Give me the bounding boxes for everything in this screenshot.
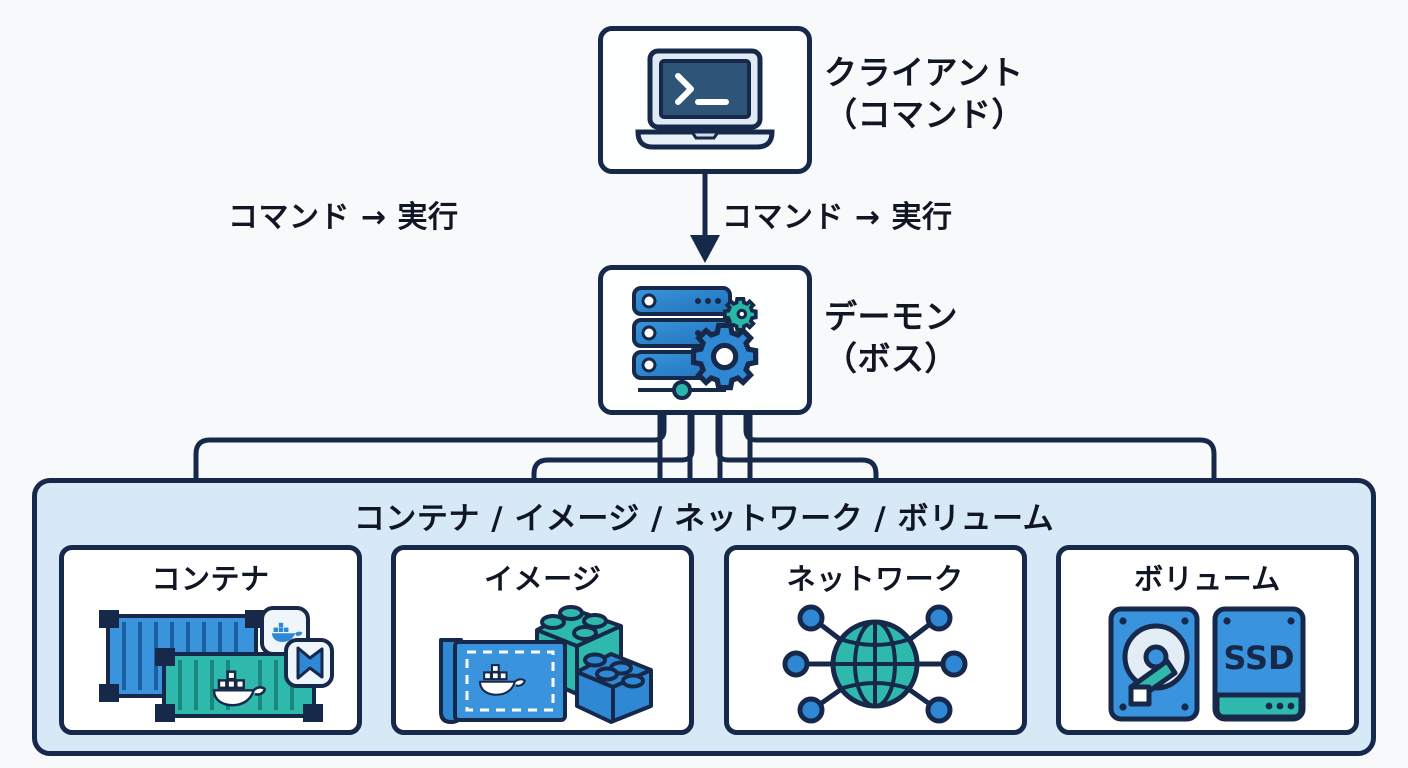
laptop-terminal-icon — [630, 46, 780, 154]
resource-card-image[interactable]: イメージ — [391, 545, 694, 735]
edge-label-left: コマンド → 実行 — [228, 192, 459, 236]
server-rack-gears-icon — [620, 280, 790, 400]
resource-card-title: イメージ — [484, 556, 601, 598]
client-node[interactable] — [598, 26, 812, 174]
resource-card-art — [729, 598, 1022, 730]
resources-panel: コンテナ / イメージ / ネットワーク / ボリューム コンテナ — [32, 478, 1376, 756]
resource-card-art — [396, 598, 689, 730]
ssd-icon: SSD — [1215, 609, 1303, 719]
resource-card-volume[interactable]: ボリューム — [1056, 545, 1359, 735]
client-label: クライアント （コマンド） — [824, 52, 1025, 136]
resource-card-art: SSD — [1061, 598, 1354, 730]
resource-card-title: ボリューム — [1134, 556, 1281, 598]
vscode-badge-icon — [286, 640, 332, 686]
resources-title: コンテナ / イメージ / ネットワーク / ボリューム — [37, 493, 1371, 538]
resource-card-title: コンテナ — [151, 556, 269, 598]
resource-card-network[interactable]: ネットワーク — [724, 545, 1027, 735]
globe-network-icon — [780, 599, 970, 729]
hdd-icon — [1111, 609, 1197, 719]
blueprint-blocks-icon — [425, 602, 660, 727]
hdd-ssd-icon: SSD — [1105, 603, 1310, 725]
edge-label-right: コマンド → 実行 — [722, 192, 953, 236]
shipping-containers-icon — [86, 602, 336, 727]
arrow-head-icon — [690, 235, 720, 263]
resource-card-container[interactable]: コンテナ — [59, 545, 362, 735]
daemon-node[interactable] — [598, 265, 812, 415]
resource-card-title: ネットワーク — [787, 556, 964, 598]
daemon-label: デーモン （ボス） — [824, 296, 958, 380]
resource-card-art — [64, 598, 357, 730]
resource-cards-row: コンテナ — [59, 545, 1359, 735]
svg-text:SSD: SSD — [1223, 639, 1294, 677]
diagram-canvas: クライアント （コマンド） — [0, 0, 1408, 768]
